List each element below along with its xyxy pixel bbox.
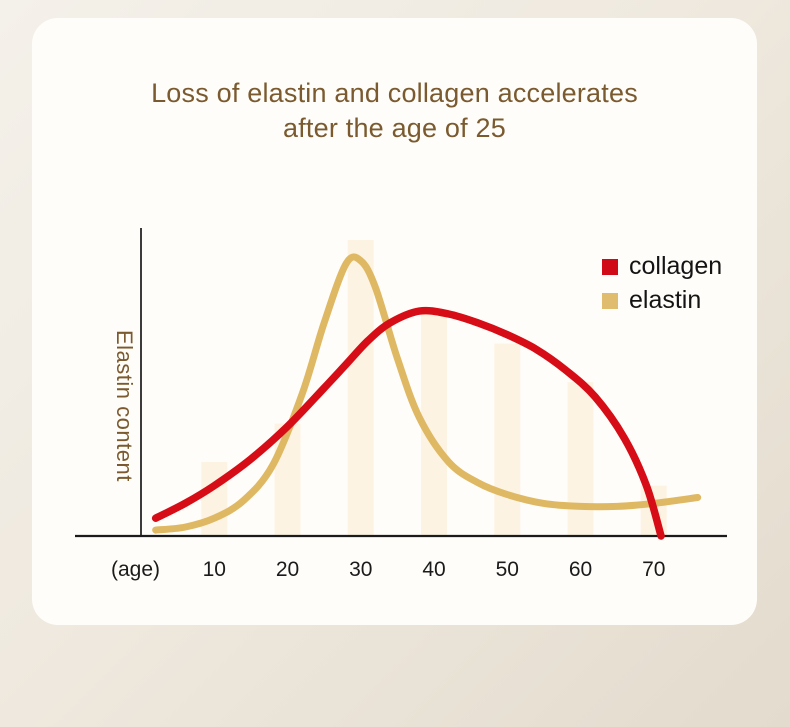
legend-label-elastin: elastin [629,288,701,313]
chart-card: Loss of elastin and collagen accelerates… [32,18,757,625]
bar-30 [348,240,374,536]
x-tick-40: 40 [404,558,464,582]
legend-item-collagen: collagen [602,254,722,279]
legend-swatch-collagen [602,259,618,275]
legend-item-elastin: elastin [602,288,722,313]
x-tick-60: 60 [551,558,611,582]
x-tick-10: 10 [184,558,244,582]
bar-50 [494,344,520,536]
x-tick-70: 70 [624,558,684,582]
y-axis-title-text: Elastin content [111,330,137,482]
legend-swatch-elastin [602,293,618,309]
x-tick-50: 50 [477,558,537,582]
chart-legend: collagen elastin [602,254,722,322]
bar-60 [568,382,594,536]
x-tick-20: 20 [258,558,318,582]
y-axis-title: Elastin content [111,286,137,526]
legend-label-collagen: collagen [629,254,722,279]
bars-layer [201,240,667,536]
x-tick-30: 30 [331,558,391,582]
x-axis-title: (age) [70,558,160,582]
